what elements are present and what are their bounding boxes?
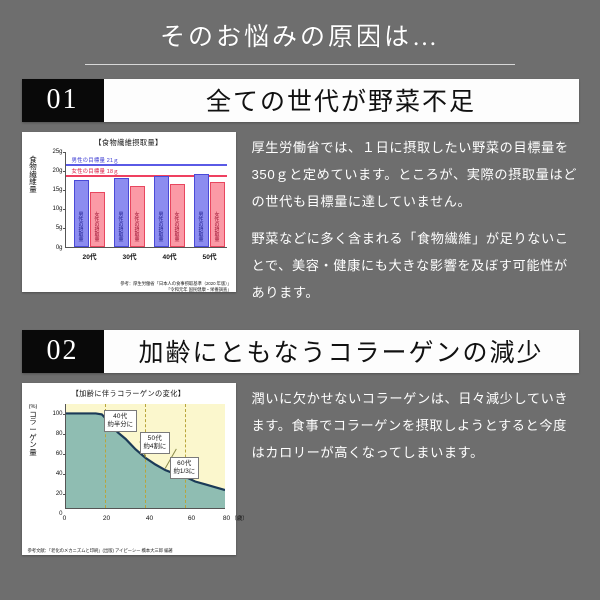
section-01-title: 全ての世代が野菜不足 (104, 79, 579, 122)
y-tick-label: 25g (52, 149, 62, 155)
source-note-line: 「令和元年 国民健康・栄養調査」 (120, 287, 231, 293)
callout-40s-line1: 40代 (108, 413, 134, 421)
male-target-line: 男性の目標量 21ｇ (66, 164, 227, 166)
fiber-chart-y-axis-label: 食 物 繊 維 量 (28, 156, 39, 194)
bar-label-female: 女 性 の 摂 取 量 (171, 213, 184, 243)
section-01-paragraph-1: 厚生労働省では、１日に摂取したい野菜の目標量を 350ｇと定めています。ところが… (252, 134, 579, 215)
bar-female-20s: 女 性 の 摂 取 量 (90, 192, 105, 247)
callout-40s: 40代 約半分に (104, 410, 138, 432)
collagen-chart-source-note: 参考文献：「老化のメカニズムと印刷」(出版) アイピーシー 橋本大三郎 編著 (28, 548, 173, 554)
bar-label-male: 男 性 の 摂 取 量 (195, 213, 208, 243)
x-tick-label-20s: 20代 (83, 251, 97, 261)
bar-label-female: 女 性 の 摂 取 量 (211, 213, 224, 243)
callout-60s-line1: 60代 (174, 460, 196, 468)
section-01-heading: 01 全ての世代が野菜不足 (22, 79, 579, 122)
section-02-title: 加齢にともなうコラーゲンの減少 (104, 330, 579, 373)
bar-label-male: 男 性 の 摂 取 量 (75, 213, 88, 243)
collagen-chart-plot-area: (%) コ ラ ー ゲ ン 量 100 80 60 40 20 0 (27, 399, 231, 529)
bar-male-50s: 男 性 の 摂 取 量 (194, 174, 209, 247)
bar-label-female: 女 性 の 摂 取 量 (131, 213, 144, 243)
callout-50s-line1: 50代 (144, 435, 167, 443)
y-tick-label: 80 (56, 431, 63, 437)
fiber-chart-plot-area: 食 物 繊 維 量 25g 20g 15g 10g 5g 0g (27, 148, 231, 266)
y-tick-label: 0g (56, 245, 63, 251)
callout-50s-line2: 約4割に (144, 443, 167, 451)
x-tick-label-50s: 50代 (203, 251, 217, 261)
y-tick-label: 100 (52, 411, 62, 417)
section-02-paragraph-1: 潤いに欠かせないコラーゲンは、日々減少していきます。食事でコラーゲンを摂取しよう… (252, 385, 579, 466)
x-tick-label-20: 20 (103, 515, 110, 522)
section-01: 01 全ての世代が野菜不足 【食物繊維摂取量】 食 物 繊 維 量 25g 20… (0, 79, 600, 306)
bar-label-female: 女 性 の 摂 取 量 (91, 213, 104, 243)
page-title: そのお悩みの原因は… (0, 24, 600, 52)
section-02-number: 02 (22, 330, 104, 373)
y-axis-char: 量 (28, 186, 39, 194)
callout-60s: 60代 約1/3に (170, 457, 200, 479)
fiber-intake-chart: 【食物繊維摂取量】 食 物 繊 維 量 25g 20g 15g 10g 5g 0… (22, 132, 236, 292)
bar-female-50s: 女 性 の 摂 取 量 (210, 182, 225, 247)
x-tick-label-40: 40 (146, 515, 153, 522)
source-note-line: 参考：厚生労働省「日本人の食事摂取基準（2020 年版）」 (120, 281, 231, 287)
callout-40s-line2: 約半分に (108, 421, 134, 429)
collagen-chart-axes: 40代 約半分に 50代 約4割に 60代 約1/3に (65, 404, 225, 509)
source-note-line: 参考文献：「老化のメカニズムと印刷」(出版) アイピーシー 橋本大三郎 編著 (28, 548, 173, 554)
section-02: 02 加齢にともなうコラーゲンの減少 【加齢に伴うコラーゲンの変化】 (%) コ… (0, 330, 600, 555)
bar-female-40s: 女 性 の 摂 取 量 (170, 184, 185, 246)
x-tick-label-0: 0 (63, 515, 67, 522)
y-tick-label: 20 (56, 491, 63, 497)
fiber-chart-axes: 男性の目標量 21ｇ 女性の目標量 18ｇ 男 性 の 摂 取 量 (65, 152, 227, 248)
header-divider (85, 64, 515, 65)
section-01-paragraph-2: 野菜などに多く含まれる「食物繊維」が足りないことで、美容・健康にも大きな影響を及… (252, 225, 579, 306)
section-01-body: 【食物繊維摂取量】 食 物 繊 維 量 25g 20g 15g 10g 5g 0… (22, 132, 579, 306)
y-axis-char: 量 (28, 449, 39, 457)
section-01-copy: 厚生労働省では、１日に摂取したい野菜の目標量を 350ｇと定めています。ところが… (236, 132, 579, 306)
male-target-label: 男性の目標量 21ｇ (72, 156, 119, 164)
bar-male-40s: 男 性 の 摂 取 量 (154, 176, 169, 247)
section-02-copy: 潤いに欠かせないコラーゲンは、日々減少していきます。食事でコラーゲンを摂取しよう… (236, 383, 579, 466)
section-02-heading: 02 加齢にともなうコラーゲンの減少 (22, 330, 579, 373)
female-target-label: 女性の目標量 18ｇ (72, 167, 119, 175)
bar-female-30s: 女 性 の 摂 取 量 (130, 186, 145, 247)
y-tick-label: 60 (56, 451, 63, 457)
collagen-chart-title: 【加齢に伴うコラーゲンの変化】 (27, 388, 231, 399)
section-01-number: 01 (22, 79, 104, 122)
page-header: そのお悩みの原因は… (0, 0, 600, 65)
section-02-body: 【加齢に伴うコラーゲンの変化】 (%) コ ラ ー ゲ ン 量 100 80 6… (22, 383, 579, 555)
callout-60s-line2: 約1/3に (174, 468, 196, 476)
x-axis-unit-label: （歳） (231, 514, 248, 522)
collagen-chart-y-ticks: 100 80 60 40 20 0 (41, 399, 63, 529)
x-tick-label-40s: 40代 (163, 251, 177, 261)
fiber-chart-y-ticks: 25g 20g 15g 10g 5g 0g (39, 148, 63, 266)
y-tick-label: 5g (56, 225, 63, 231)
y-tick-label: 40 (56, 471, 63, 477)
fiber-chart-title: 【食物繊維摂取量】 (27, 137, 231, 148)
callout-50s: 50代 約4割に (140, 432, 171, 454)
callout-leader-lines (66, 404, 225, 507)
bar-male-20s: 男 性 の 摂 取 量 (74, 180, 89, 246)
x-tick-label-30s: 30代 (123, 251, 137, 261)
fiber-chart-source-note: 参考：厚生労働省「日本人の食事摂取基準（2020 年版）」 「令和元年 国民健康… (120, 281, 231, 293)
y-tick-label: 20g (52, 168, 62, 174)
collagen-chart-y-axis-label: (%) コ ラ ー ゲ ン 量 (28, 405, 39, 457)
collagen-decline-chart: 【加齢に伴うコラーゲンの変化】 (%) コ ラ ー ゲ ン 量 100 80 6… (22, 383, 236, 555)
x-tick-label-60: 60 (188, 515, 195, 522)
bar-label-male: 男 性 の 摂 取 量 (115, 213, 128, 243)
y-tick-label: 10g (52, 206, 62, 212)
x-tick-label-80: 80 (223, 515, 230, 522)
bar-label-male: 男 性 の 摂 取 量 (155, 213, 168, 243)
bar-male-30s: 男 性 の 摂 取 量 (114, 178, 129, 246)
y-tick-label: 15g (52, 187, 62, 193)
